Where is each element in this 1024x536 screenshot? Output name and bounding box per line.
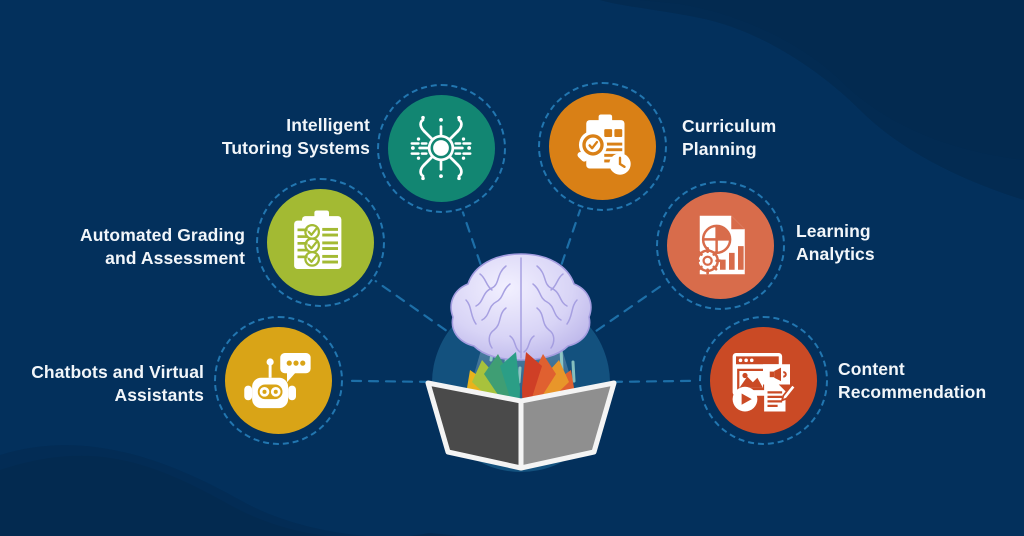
label-automated-grading-and-assessment: Automated Grading and Assessment (60, 224, 245, 270)
label-chatbots-and-virtual-assistants: Chatbots and Virtual Assistants (20, 361, 204, 407)
node-automated-grading-and-assessment[interactable] (267, 189, 374, 296)
label-learning-analytics: Learning Analytics (796, 220, 956, 266)
chat-robot-icon (242, 344, 314, 416)
infographic-canvas: Intelligent Tutoring Systems (0, 0, 1024, 536)
label-content-recommendation: Content Recommendation (838, 358, 1018, 404)
clipboard-magnifier-clock-icon (566, 110, 638, 182)
center-hub-circle (432, 294, 610, 472)
label-curriculum-planning: Curriculum Planning (682, 115, 852, 161)
node-learning-analytics[interactable] (667, 192, 774, 299)
node-chatbots-and-virtual-assistants[interactable] (225, 327, 332, 434)
ai-neural-core-icon (405, 112, 477, 184)
node-curriculum-planning[interactable] (549, 93, 656, 200)
node-intelligent-tutoring-systems[interactable] (388, 95, 495, 202)
node-content-recommendation[interactable] (710, 327, 817, 434)
label-intelligent-tutoring-systems: Intelligent Tutoring Systems (220, 114, 370, 160)
media-content-icon (727, 344, 799, 416)
nodes-layer: Intelligent Tutoring Systems (0, 0, 1024, 536)
clipboard-checklist-icon (284, 206, 356, 278)
report-chart-gear-icon (684, 209, 756, 281)
